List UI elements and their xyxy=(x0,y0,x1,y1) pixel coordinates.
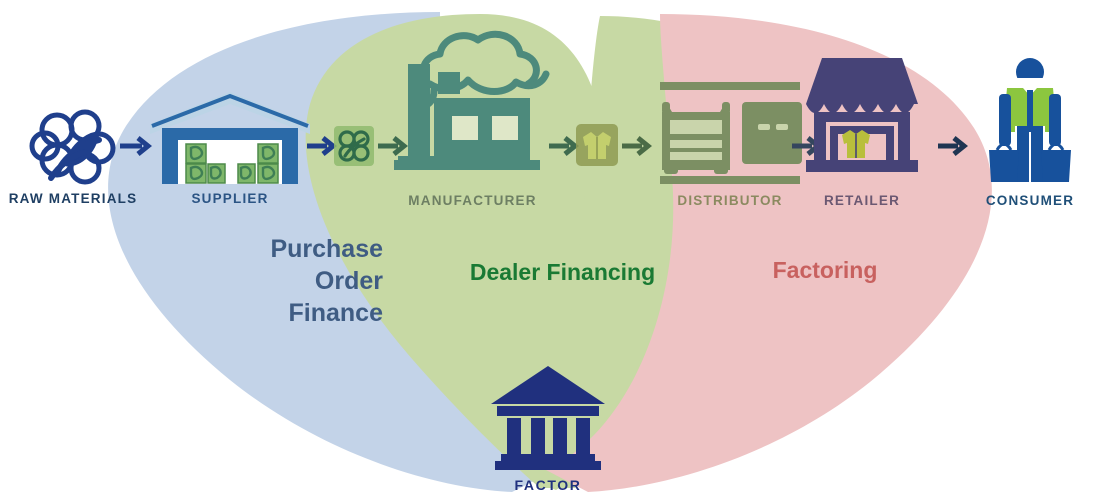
purchase-order-finance-label: Purchase Order Finance xyxy=(243,233,383,329)
node-consumer[interactable]: CONSUMER xyxy=(965,54,1095,208)
dealer-financing-label: Dealer Financing xyxy=(455,258,670,287)
node-label-retailer: RETAILER xyxy=(824,193,900,208)
diagram-canvas: RAW MATERIALS xyxy=(0,0,1100,500)
cotton-boll-icon xyxy=(27,104,119,188)
factoring-label: Factoring xyxy=(760,256,890,285)
node-label-consumer: CONSUMER xyxy=(986,193,1074,208)
node-manufacturer[interactable]: MANUFACTURER xyxy=(390,20,555,208)
node-supplier[interactable]: SUPPLIER xyxy=(145,88,315,206)
node-retailer[interactable]: RETAILER xyxy=(800,52,924,208)
node-label-factor: FACTOR xyxy=(515,477,582,493)
node-label-distributor: DISTRIBUTOR xyxy=(677,193,782,208)
node-factor[interactable]: FACTOR xyxy=(487,364,609,493)
storefront-icon xyxy=(800,52,924,190)
shopper-icon xyxy=(967,54,1093,190)
truck-icon xyxy=(646,78,814,190)
warehouse-icon xyxy=(146,88,314,188)
node-label-raw-materials: RAW MATERIALS xyxy=(9,191,138,206)
node-label-manufacturer: MANUFACTURER xyxy=(408,193,536,208)
yarn-spool-icon xyxy=(334,126,374,166)
factory-icon xyxy=(390,20,555,190)
bank-building-icon xyxy=(487,364,609,474)
node-label-supplier: SUPPLIER xyxy=(191,191,268,206)
shirt-icon xyxy=(576,124,618,166)
